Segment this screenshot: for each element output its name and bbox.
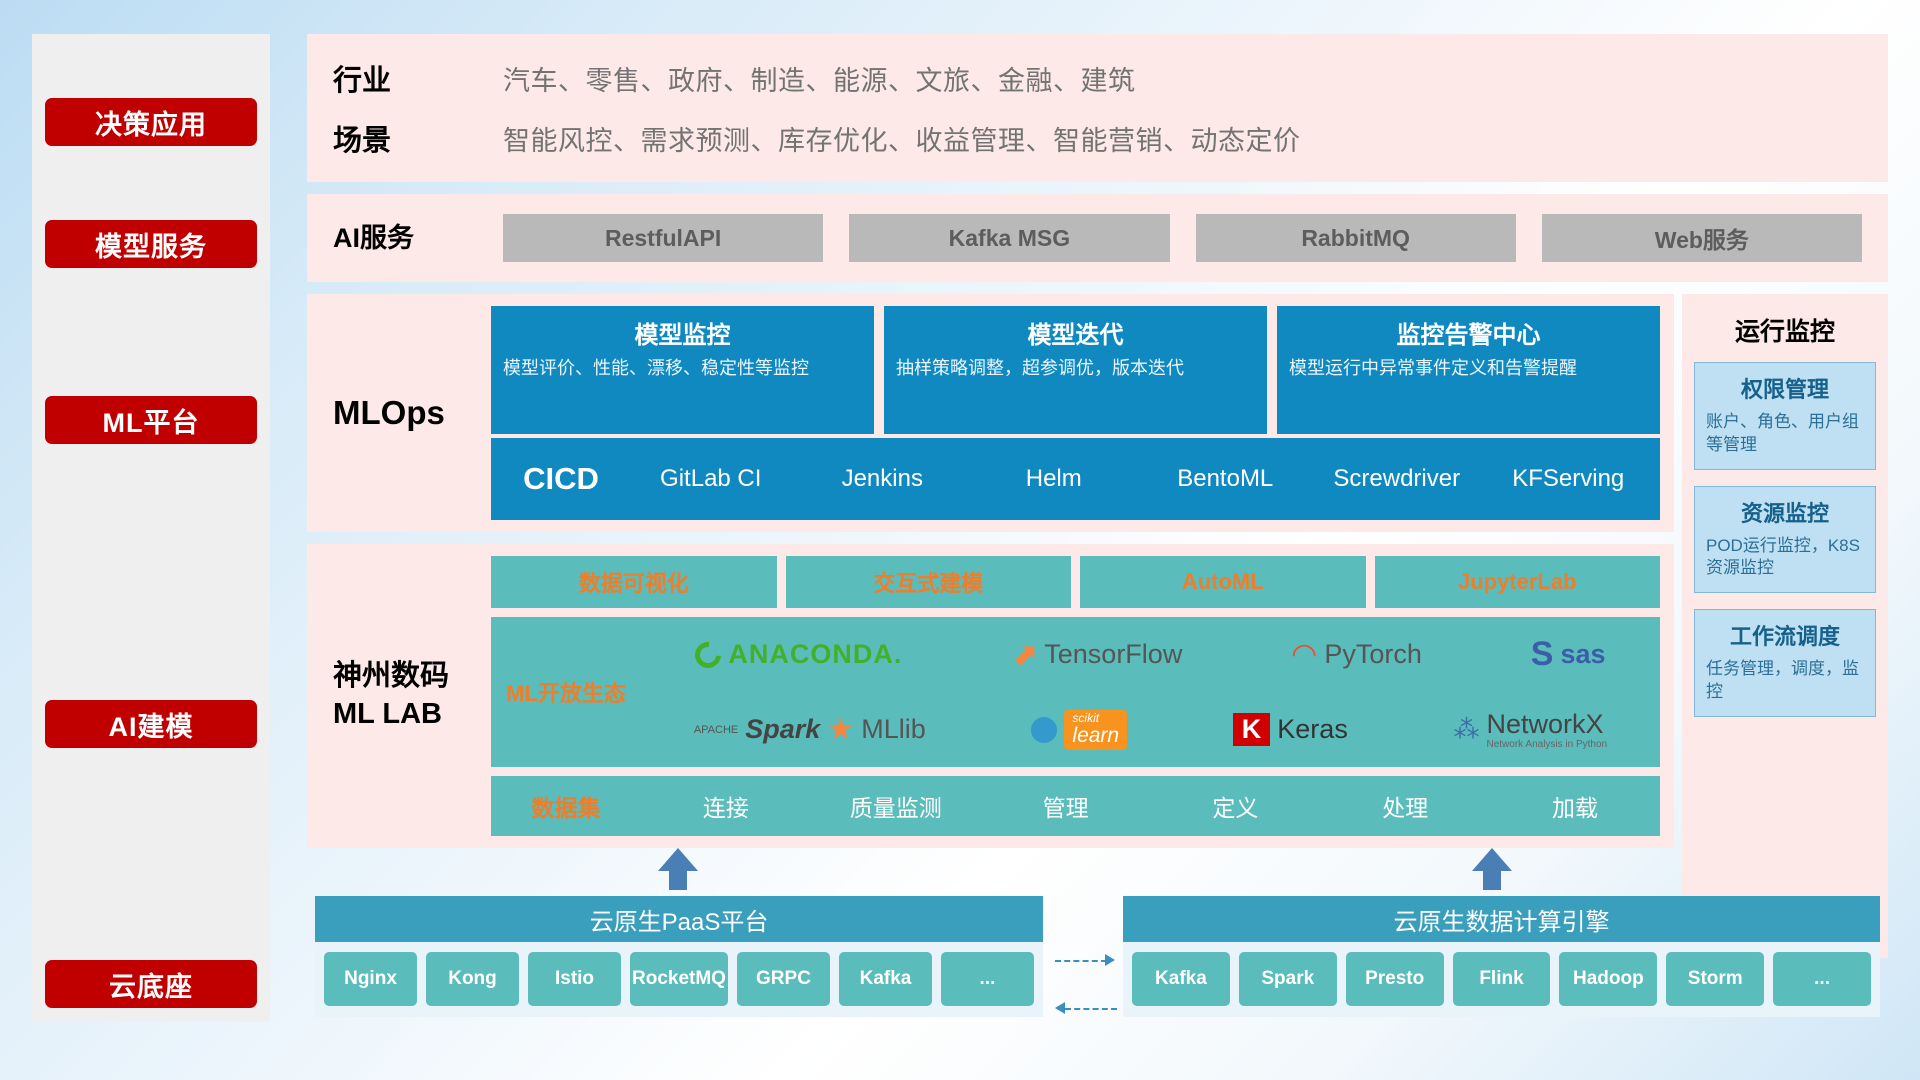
scenario-row: 场景 智能风控、需求预测、库存优化、收益管理、智能营销、动态定价 xyxy=(333,117,1301,159)
cicd-tag: CICD xyxy=(497,461,625,497)
spark-star-icon: ★ xyxy=(827,712,854,747)
modeling-label-line1: 神州数码 xyxy=(333,658,449,696)
engine-arrow-stem xyxy=(1483,870,1501,890)
ai-service-box-label: Web服务 xyxy=(1655,221,1749,255)
industry-scenario-band: 行业 汽车、零售、政府、制造、能源、文旅、金融、建筑 场景 智能风控、需求预测、… xyxy=(307,34,1888,182)
anaconda-logo[interactable]: ANACONDA. xyxy=(695,639,902,670)
ai-service-boxes: RestfulAPI Kafka MSG RabbitMQ Web服务 xyxy=(503,214,1888,262)
monitoring-card-permission[interactable]: 权限管理 账户、角色、用户组等管理 xyxy=(1694,362,1876,470)
engine-chip-presto[interactable]: Presto xyxy=(1346,952,1444,1006)
card-title: 监控告警中心 xyxy=(1289,315,1648,350)
mlops-card-model-iteration[interactable]: 模型迭代 抽样策略调整，超参调优，版本迭代 xyxy=(884,306,1267,434)
rail-item-label: ML平台 xyxy=(103,401,200,440)
mlops-card-model-monitoring[interactable]: 模型监控 模型评价、性能、漂移、稳定性等监控 xyxy=(491,306,874,434)
mllib-label: MLlib xyxy=(861,714,926,745)
learn-label: learn xyxy=(1072,724,1119,747)
paas-chip-istio[interactable]: Istio xyxy=(528,952,621,1006)
dataset-cell-quality-monitor[interactable]: 质量监测 xyxy=(811,789,981,823)
diagram-canvas: 决策应用 模型服务 ML平台 AI建模 云底座 行业 汽车、零售、政府、制造、能… xyxy=(0,0,1920,1080)
tool-chip-jupyterlab[interactable]: JupyterLab xyxy=(1375,556,1661,608)
spark-mllib-logo[interactable]: APACHE Spark ★ MLlib xyxy=(694,712,926,747)
dashed-connector-right xyxy=(1055,960,1107,962)
monitoring-title: 运行监控 xyxy=(1694,312,1876,348)
rail-item-label: AI建模 xyxy=(109,705,194,744)
chip-label: AutoML xyxy=(1182,569,1264,595)
main-column: 行业 汽车、零售、政府、制造、能源、文旅、金融、建筑 场景 智能风控、需求预测、… xyxy=(307,34,1888,1036)
mlops-stack: 模型监控 模型评价、性能、漂移、稳定性等监控 模型迭代 抽样策略调整，超参调优，… xyxy=(491,306,1660,520)
card-title: 权限管理 xyxy=(1706,372,1864,404)
tensorflow-icon: ⬈ xyxy=(1011,637,1037,673)
paas-arrow-up-icon xyxy=(658,848,698,871)
tensorflow-logo[interactable]: ⬈ TensorFlow xyxy=(1011,637,1182,673)
engine-box: 云原生数据计算引擎 Kafka Spark Presto Flink Hadoo… xyxy=(1123,896,1880,1017)
sas-icon: S xyxy=(1531,635,1554,674)
ai-service-label: AI服务 xyxy=(333,220,503,256)
ml-ecosystem-logos: ANACONDA. ⬈ TensorFlow ◠ PyTorch xyxy=(641,617,1660,767)
mlops-left-panel: MLOps 模型监控 模型评价、性能、漂移、稳定性等监控 模型迭代 抽样策略调整… xyxy=(307,294,1674,532)
dashed-arrow-right-icon xyxy=(1105,954,1115,966)
tensorflow-label: TensorFlow xyxy=(1044,639,1182,670)
chip-label: 数据可视化 xyxy=(579,566,689,598)
engine-title: 云原生数据计算引擎 xyxy=(1123,896,1880,942)
monitoring-card-workflow[interactable]: 工作流调度 任务管理，调度，监控 xyxy=(1694,609,1876,717)
networkx-logo[interactable]: ⁂ NetworkX Network Analysis in Python xyxy=(1454,709,1608,750)
logo-row-1: ANACONDA. ⬈ TensorFlow ◠ PyTorch xyxy=(641,617,1660,692)
dashed-connector-left xyxy=(1065,1008,1117,1010)
dashed-arrow-left-icon xyxy=(1055,1002,1065,1014)
spark-label: Spark xyxy=(745,714,820,745)
paas-chip-rocketmq[interactable]: RocketMQ xyxy=(630,952,728,1006)
mlops-band: MLOps 模型监控 模型评价、性能、漂移、稳定性等监控 模型迭代 抽样策略调整… xyxy=(307,294,1888,532)
cicd-tool-screwdriver[interactable]: Screwdriver xyxy=(1311,466,1483,491)
paas-chip-nginx[interactable]: Nginx xyxy=(324,952,417,1006)
paas-chip-kong[interactable]: Kong xyxy=(426,952,519,1006)
rail-item-label: 决策应用 xyxy=(95,103,207,142)
rail-item-label: 云底座 xyxy=(109,965,193,1004)
card-desc: 模型评价、性能、漂移、稳定性等监控 xyxy=(503,357,862,381)
card-title: 资源监控 xyxy=(1706,496,1864,528)
ml-ecosystem-panel: ML开放生态 ANACONDA. ⬈ TensorFlow xyxy=(491,617,1660,767)
apache-label: APACHE xyxy=(694,724,738,736)
industry-scenario-rows: 行业 汽车、零售、政府、制造、能源、文旅、金融、建筑 场景 智能风控、需求预测、… xyxy=(333,57,1301,159)
card-title: 模型监控 xyxy=(503,315,862,350)
mlops-cards: 模型监控 模型评价、性能、漂移、稳定性等监控 模型迭代 抽样策略调整，超参调优，… xyxy=(491,306,1660,434)
cicd-tool-bentoml[interactable]: BentoML xyxy=(1140,466,1312,491)
modeling-label-line2: ML LAB xyxy=(333,696,449,734)
card-desc: 模型运行中异常事件定义和告警提醒 xyxy=(1289,357,1648,381)
engine-chip-hadoop[interactable]: Hadoop xyxy=(1559,952,1657,1006)
networkx-icon: ⁂ xyxy=(1454,714,1480,745)
monitoring-card-resource[interactable]: 资源监控 POD运行监控，K8S资源监控 xyxy=(1694,486,1876,594)
tool-chip-interactive-modeling[interactable]: 交互式建模 xyxy=(786,556,1072,608)
rail-item-ai-modeling[interactable]: AI建模 xyxy=(45,700,257,748)
layer-rail: 决策应用 模型服务 ML平台 AI建模 云底座 xyxy=(32,34,270,1022)
rail-item-ml-platform[interactable]: ML平台 xyxy=(45,396,257,444)
scikit-label: scikit xyxy=(1072,712,1119,724)
paas-title: 云原生PaaS平台 xyxy=(315,896,1043,942)
scikit-learn-label: scikit learn xyxy=(1064,710,1127,750)
ml-ecosystem-label: ML开放生态 xyxy=(491,617,641,767)
sas-logo[interactable]: S sas xyxy=(1531,635,1606,674)
dataset-cell-process[interactable]: 处理 xyxy=(1320,789,1490,823)
keras-icon: K xyxy=(1233,713,1271,746)
paas-chip-kafka[interactable]: Kafka xyxy=(839,952,932,1006)
industry-value: 汽车、零售、政府、制造、能源、文旅、金融、建筑 xyxy=(503,59,1136,98)
dataset-cell-load[interactable]: 加载 xyxy=(1490,789,1660,823)
scikit-learn-logo[interactable]: scikit learn xyxy=(1031,710,1127,750)
rail-item-cloud-base[interactable]: 云底座 xyxy=(45,960,257,1008)
tool-chip-automl[interactable]: AutoML xyxy=(1080,556,1366,608)
industry-row: 行业 汽车、零售、政府、制造、能源、文旅、金融、建筑 xyxy=(333,57,1301,99)
pytorch-icon: ◠ xyxy=(1291,637,1317,672)
engine-chip-more[interactable]: ... xyxy=(1773,952,1871,1006)
ai-service-box-restfulapi[interactable]: RestfulAPI xyxy=(503,214,823,262)
chip-label: 交互式建模 xyxy=(873,566,983,598)
card-desc: 抽样策略调整，超参调优，版本迭代 xyxy=(896,357,1255,381)
scikit-learn-icon xyxy=(1031,717,1057,743)
cicd-tool-gitlab-ci[interactable]: GitLab CI xyxy=(625,466,797,491)
pytorch-label: PyTorch xyxy=(1324,639,1422,670)
engine-chip-storm[interactable]: Storm xyxy=(1666,952,1764,1006)
card-title: 模型迭代 xyxy=(896,315,1255,350)
modeling-label: 神州数码 ML LAB xyxy=(333,556,491,836)
anaconda-icon xyxy=(690,636,727,673)
cicd-row: CICD GitLab CI Jenkins Helm BentoML Scre… xyxy=(491,438,1660,520)
keras-label: Keras xyxy=(1277,714,1348,745)
dataset-tag: 数据集 xyxy=(491,789,641,823)
modeling-band: 神州数码 ML LAB 数据可视化 交互式建模 AutoML xyxy=(307,544,1888,848)
engine-chip-kafka[interactable]: Kafka xyxy=(1132,952,1230,1006)
ai-service-box-label: Kafka MSG xyxy=(949,225,1070,252)
networkx-label: NetworkX xyxy=(1487,709,1604,739)
pytorch-logo[interactable]: ◠ PyTorch xyxy=(1291,637,1422,672)
rail-item-model-service[interactable]: 模型服务 xyxy=(45,220,257,268)
paas-chip-grpc[interactable]: GRPC xyxy=(737,952,830,1006)
mlops-label: MLOps xyxy=(333,306,491,520)
dataset-cell-define[interactable]: 定义 xyxy=(1150,789,1320,823)
rail-item-label: 模型服务 xyxy=(95,225,207,264)
dataset-row: 数据集 连接 质量监测 管理 定义 处理 加载 xyxy=(491,776,1660,836)
engine-chips: Kafka Spark Presto Flink Hadoop Storm ..… xyxy=(1123,942,1880,1017)
engine-chip-flink[interactable]: Flink xyxy=(1453,952,1551,1006)
dataset-cell-manage[interactable]: 管理 xyxy=(981,789,1151,823)
ai-service-box-label: RabbitMQ xyxy=(1301,225,1410,252)
ai-service-box-rabbitmq[interactable]: RabbitMQ xyxy=(1196,214,1516,262)
ai-service-band: AI服务 RestfulAPI Kafka MSG RabbitMQ Web服务 xyxy=(307,194,1888,282)
paas-arrow-stem xyxy=(669,870,687,890)
logo-row-2: APACHE Spark ★ MLlib scikit learn xyxy=(641,692,1660,767)
mlops-card-alert-center[interactable]: 监控告警中心 模型运行中异常事件定义和告警提醒 xyxy=(1277,306,1660,434)
scenario-label: 场景 xyxy=(333,117,503,159)
card-desc: 任务管理，调度，监控 xyxy=(1706,658,1864,704)
modeling-left-panel: 神州数码 ML LAB 数据可视化 交互式建模 AutoML xyxy=(307,544,1674,848)
card-desc: POD运行监控，K8S资源监控 xyxy=(1706,535,1864,581)
card-desc: 账户、角色、用户组等管理 xyxy=(1706,411,1864,457)
paas-chips: Nginx Kong Istio RocketMQ GRPC Kafka ... xyxy=(315,942,1043,1017)
sas-label: sas xyxy=(1560,639,1605,670)
engine-chip-spark[interactable]: Spark xyxy=(1239,952,1337,1006)
dataset-cell-connect[interactable]: 连接 xyxy=(641,789,811,823)
cicd-tool-helm[interactable]: Helm xyxy=(968,466,1140,491)
tool-chip-data-visualization[interactable]: 数据可视化 xyxy=(491,556,777,608)
ai-service-box-label: RestfulAPI xyxy=(605,225,721,252)
paas-chip-more[interactable]: ... xyxy=(941,952,1034,1006)
paas-box: 云原生PaaS平台 Nginx Kong Istio RocketMQ GRPC… xyxy=(315,896,1043,1017)
chip-label: JupyterLab xyxy=(1458,569,1577,595)
cloud-base-band: 云原生PaaS平台 Nginx Kong Istio RocketMQ GRPC… xyxy=(307,848,1888,1036)
rail-item-decision-app[interactable]: 决策应用 xyxy=(45,98,257,146)
industry-label: 行业 xyxy=(333,57,503,99)
networkx-subtitle: Network Analysis in Python xyxy=(1487,740,1608,750)
engine-arrow-up-icon xyxy=(1472,848,1512,871)
cicd-tool-kfserving[interactable]: KFServing xyxy=(1483,466,1655,491)
ai-service-box-kafka-msg[interactable]: Kafka MSG xyxy=(849,214,1169,262)
cicd-tool-jenkins[interactable]: Jenkins xyxy=(797,466,969,491)
scenario-value: 智能风控、需求预测、库存优化、收益管理、智能营销、动态定价 xyxy=(503,119,1301,158)
anaconda-label: ANACONDA. xyxy=(728,639,902,670)
modeling-tool-chips: 数据可视化 交互式建模 AutoML JupyterLab xyxy=(491,556,1660,608)
ai-service-box-web-service[interactable]: Web服务 xyxy=(1542,214,1862,262)
keras-logo[interactable]: K Keras xyxy=(1233,713,1348,746)
modeling-stack: 数据可视化 交互式建模 AutoML JupyterLab ML xyxy=(491,556,1660,836)
card-title: 工作流调度 xyxy=(1706,619,1864,651)
